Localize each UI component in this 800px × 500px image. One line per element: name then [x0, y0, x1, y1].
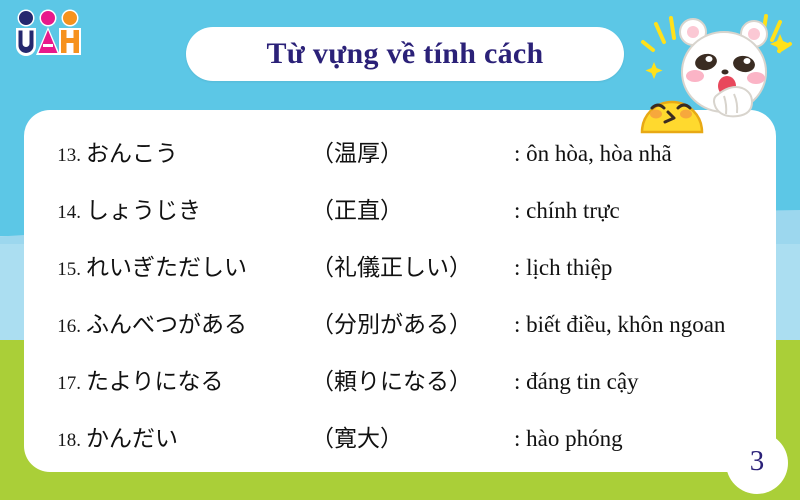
row-kana: ふんべつがある — [86, 305, 311, 339]
row-number: 17. — [52, 373, 86, 395]
vocabulary-row: 17. たよりになる （頼りになる） : đáng tin cậy — [24, 362, 776, 419]
row-translation: : ôn hòa, hòa nhã — [514, 141, 776, 167]
row-kana: しょうじき — [86, 191, 311, 225]
vocabulary-row: 18. かんだい （寛大） : hào phóng — [24, 419, 776, 476]
row-translation: : chính trực — [514, 198, 776, 224]
page-title: Từ vựng về tính cách — [266, 39, 543, 69]
row-number: 13. — [52, 145, 86, 167]
vocabulary-row: 15. れいぎただしい （礼儀正しい） : lịch thiệp — [24, 248, 776, 305]
vocabulary-card: 13. おんこう （温厚） : ôn hòa, hòa nhã 14. しょうじ… — [24, 110, 776, 472]
vocabulary-row: 16. ふんべつがある （分別がある） : biết điều, khôn ng… — [24, 305, 776, 362]
row-translation: : đáng tin cậy — [514, 369, 776, 395]
row-number: 15. — [52, 259, 86, 281]
uah-logo[interactable] — [12, 8, 84, 60]
row-kanji: （寛大） — [311, 419, 514, 453]
row-kanji: （礼儀正しい） — [311, 248, 514, 282]
vocabulary-list: 13. おんこう （温厚） : ôn hòa, hòa nhã 14. しょうじ… — [24, 124, 776, 476]
row-translation: : lịch thiệp — [514, 255, 776, 281]
page-number-badge: 3 — [726, 432, 788, 494]
row-kanji: （頼りになる） — [311, 362, 514, 396]
row-kanji: （分別がある） — [311, 305, 514, 339]
uah-logo-icon — [12, 8, 84, 60]
row-kana: かんだい — [86, 419, 311, 453]
page-number: 3 — [750, 447, 765, 479]
row-number: 14. — [52, 202, 86, 224]
slide-canvas: Từ vựng về tính cách — [0, 0, 800, 500]
bear-mascot — [620, 0, 800, 141]
vocabulary-row: 14. しょうじき （正直） : chính trực — [24, 191, 776, 248]
slide-title-pill: Từ vựng về tính cách — [186, 27, 624, 81]
row-translation: : biết điều, khôn ngoan — [514, 312, 776, 338]
row-kanji: （正直） — [311, 191, 514, 225]
chick-mascot — [642, 102, 702, 132]
row-number: 16. — [52, 316, 86, 338]
row-kana: おんこう — [86, 134, 311, 168]
row-kana: たよりになる — [86, 362, 311, 396]
row-kana: れいぎただしい — [86, 248, 311, 282]
vocabulary-row: 13. おんこう （温厚） : ôn hòa, hòa nhã — [24, 134, 776, 191]
row-number: 18. — [52, 430, 86, 452]
row-kanji: （温厚） — [311, 134, 514, 168]
bear-mascot-icon — [620, 0, 800, 141]
